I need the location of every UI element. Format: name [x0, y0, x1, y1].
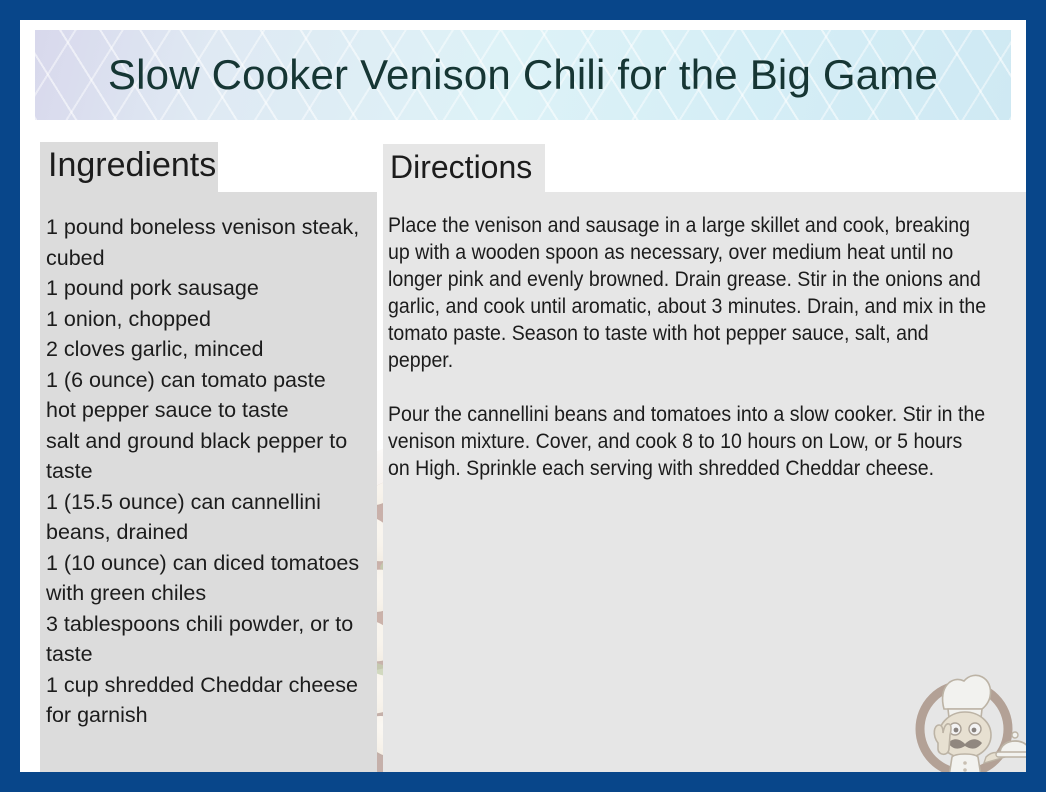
ingredients-list: 1 pound boneless venison steak, cubed 1 … [46, 212, 371, 731]
slide-canvas: Slow Cooker Venison Chili for the Big Ga… [20, 20, 1026, 772]
directions-heading: Directions [390, 151, 532, 183]
directions-text: Place the venison and sausage in a large… [388, 212, 988, 482]
ingredients-heading: Ingredients [48, 148, 216, 182]
recipe-slide: Slow Cooker Venison Chili for the Big Ga… [0, 0, 1046, 792]
page-title: Slow Cooker Venison Chili for the Big Ga… [108, 54, 938, 96]
directions-paragraph-1: Place the venison and sausage in a large… [388, 212, 988, 374]
chef-mascot-logo [908, 665, 1026, 772]
title-banner: Slow Cooker Venison Chili for the Big Ga… [35, 30, 1011, 120]
directions-paragraph-2: Pour the cannellini beans and tomatoes i… [388, 401, 988, 482]
